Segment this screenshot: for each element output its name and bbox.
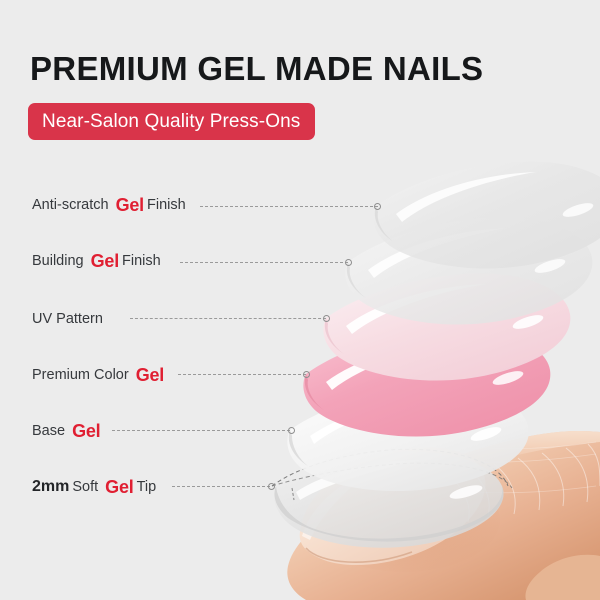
layer-label-segment: UV Pattern — [32, 310, 103, 328]
layer-label-segment: Gel — [113, 196, 147, 214]
layer-label-uv-pattern: UV Pattern — [32, 310, 103, 328]
layer-building-gel-finish — [345, 217, 592, 324]
layer-label-segment: Premium Color — [32, 366, 133, 384]
layer-label-segment: Gel — [69, 422, 103, 440]
layer-label-segment: Anti-scratch — [32, 196, 113, 214]
infographic-poster: PREMIUM GEL MADE NAILS Near-Salon Qualit… — [0, 0, 600, 600]
leader-line-building-gel-finish — [180, 262, 348, 264]
leader-line-soft-gel-tip — [172, 486, 270, 488]
leader-dot-soft-gel-tip — [268, 483, 275, 490]
layer-label-segment: Gel — [88, 252, 122, 270]
layer-label-premium-color-gel: Premium ColorGel — [32, 366, 167, 384]
leader-dot-building-gel-finish — [345, 259, 352, 266]
layer-label-anti-scratch-gel-finish: Anti-scratchGelFinish — [32, 196, 186, 214]
leader-line-premium-color-gel — [178, 374, 306, 376]
layer-premium-color-gel — [303, 329, 550, 436]
leader-line-anti-scratch-gel-finish — [200, 206, 378, 208]
layer-label-segment: Finish — [122, 252, 161, 270]
layer-label-building-gel-finish: BuildingGelFinish — [32, 252, 161, 270]
subtitle-badge-label: Near-Salon Quality Press-Ons — [42, 112, 300, 131]
leader-line-uv-pattern — [130, 318, 326, 320]
layer-label-segment: Tip — [137, 478, 157, 496]
header: PREMIUM GEL MADE NAILS Near-Salon Qualit… — [0, 0, 600, 150]
leader-dot-anti-scratch-gel-finish — [374, 203, 381, 210]
layer-uv-pattern — [323, 273, 570, 380]
layer-label-segment: Base — [32, 422, 69, 440]
layer-anti-scratch-gel-finish — [373, 161, 600, 268]
layer-label-segment: 2mm — [32, 478, 72, 496]
layer-label-base-gel: BaseGel — [32, 422, 103, 440]
layer-label-soft-gel-tip: 2mmSoftGelTip — [32, 478, 156, 496]
layer-soft-gel-tip — [272, 449, 512, 547]
layer-label-segment: Building — [32, 252, 88, 270]
leader-dot-base-gel — [288, 427, 295, 434]
leader-line-base-gel — [112, 430, 290, 432]
leader-dot-uv-pattern — [323, 315, 330, 322]
layer-label-segment: Finish — [147, 196, 186, 214]
leader-dot-premium-color-gel — [303, 371, 310, 378]
layer-base-gel — [287, 387, 528, 491]
layer-label-segment: Gel — [102, 478, 136, 496]
page-title: PREMIUM GEL MADE NAILS — [30, 50, 483, 88]
layer-label-segment: Soft — [72, 478, 102, 496]
fingertip-illustration — [287, 431, 600, 600]
subtitle-badge: Near-Salon Quality Press-Ons — [28, 103, 315, 140]
layer-label-segment: Gel — [133, 366, 167, 384]
